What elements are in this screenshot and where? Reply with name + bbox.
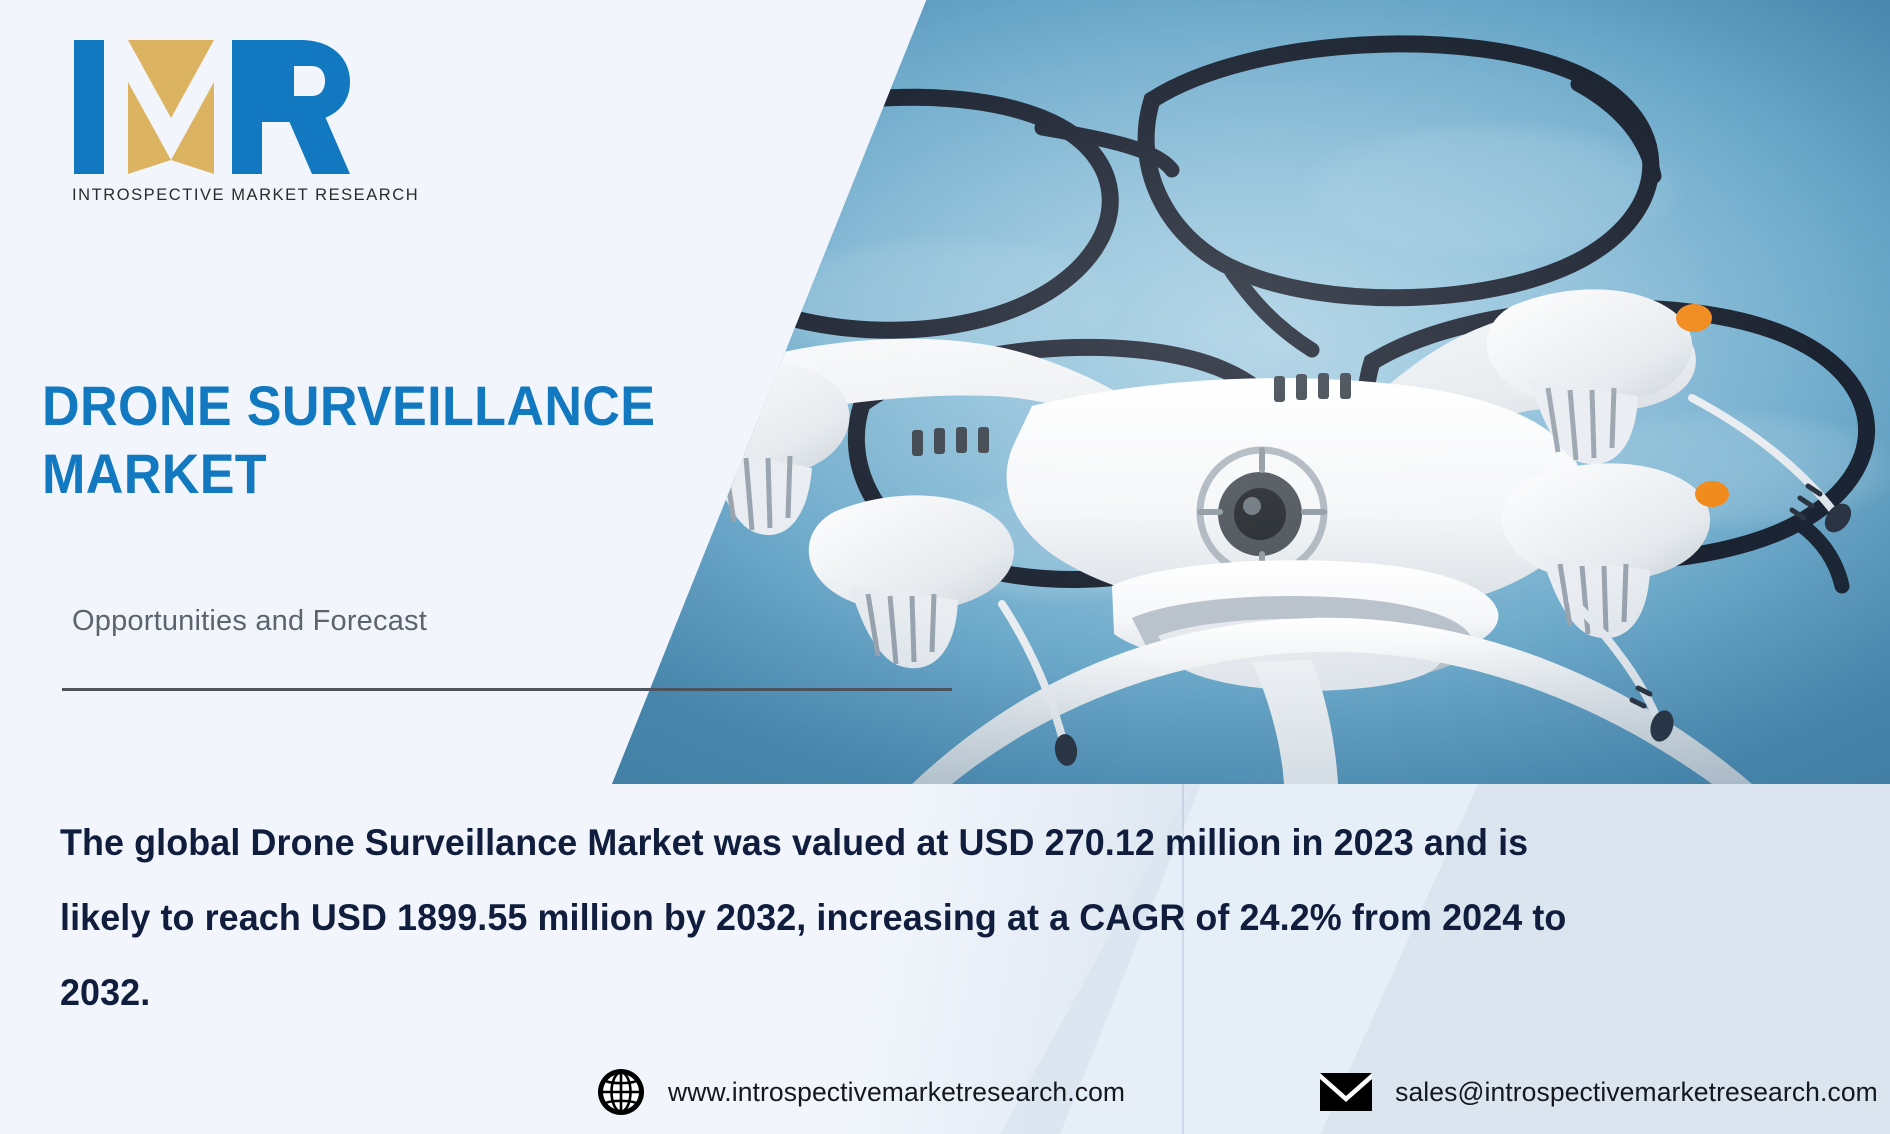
globe-icon bbox=[596, 1067, 646, 1117]
title-divider bbox=[62, 688, 952, 691]
infographic-poster: INTROSPECTIVE MARKET RESEARCH DRONE SURV… bbox=[0, 0, 1890, 1134]
email-text: sales@introspectivemarketresearch.com bbox=[1395, 1077, 1878, 1108]
market-summary-text: The global Drone Surveillance Market was… bbox=[60, 805, 1593, 1030]
page-title: DRONE SURVEILLANCE MARKET bbox=[42, 372, 656, 509]
website-link[interactable]: www.introspectivemarketresearch.com bbox=[596, 1067, 1125, 1117]
logo-tagline: INTROSPECTIVE MARKET RESEARCH bbox=[72, 186, 372, 205]
imr-logomark-icon bbox=[72, 32, 350, 182]
envelope-icon bbox=[1319, 1072, 1373, 1112]
footer-bar: www.introspectivemarketresearch.com sale… bbox=[0, 1050, 1890, 1134]
website-text: www.introspectivemarketresearch.com bbox=[668, 1077, 1125, 1108]
company-logo[interactable]: INTROSPECTIVE MARKET RESEARCH bbox=[72, 32, 372, 205]
email-link[interactable]: sales@introspectivemarketresearch.com bbox=[1319, 1072, 1878, 1112]
page-subtitle: Opportunities and Forecast bbox=[72, 605, 427, 638]
